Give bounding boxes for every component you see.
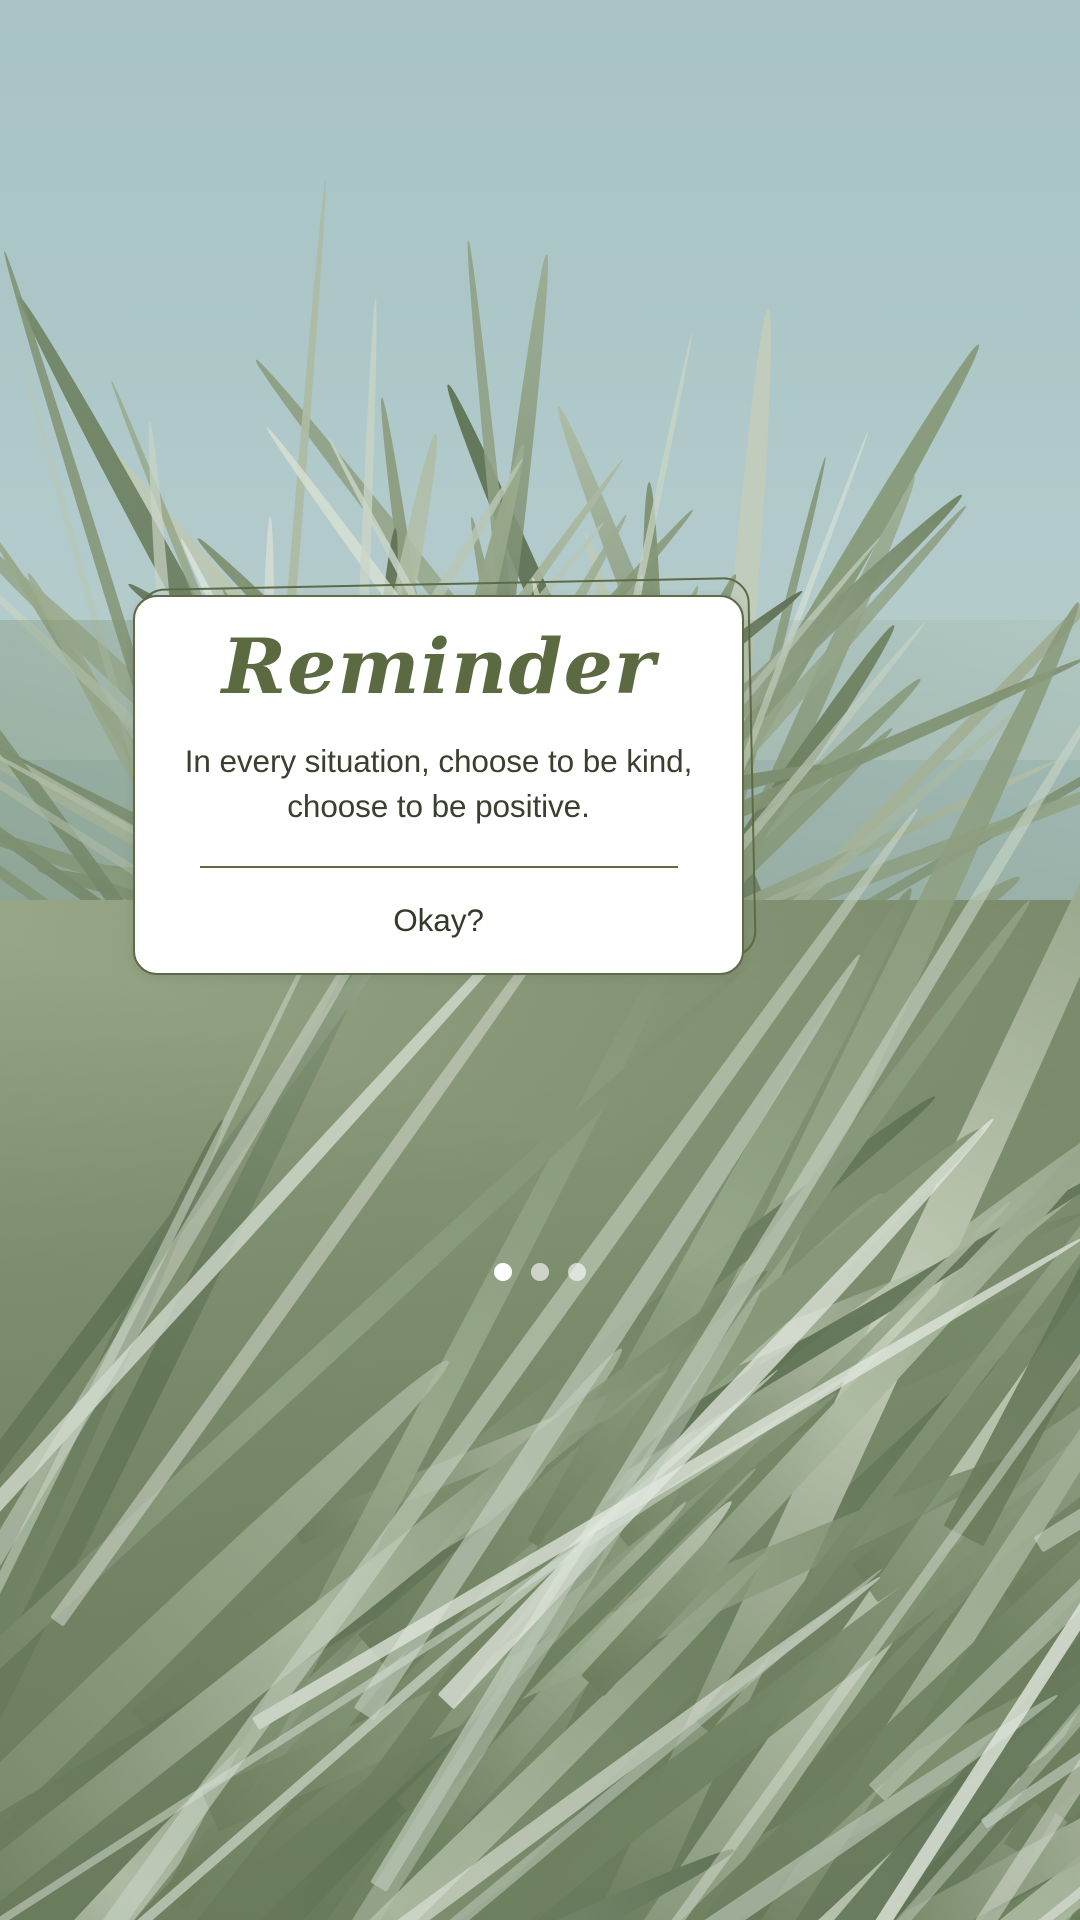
card-divider: [200, 866, 678, 868]
pagination-dot-2[interactable]: [531, 1263, 549, 1281]
story-screen: Reminder In every situation, choose to b…: [0, 0, 1080, 1920]
pagination-dot-3[interactable]: [568, 1263, 586, 1281]
reminder-card-container[interactable]: Reminder In every situation, choose to b…: [133, 583, 753, 975]
card-title: Reminder: [221, 629, 655, 705]
card-quote-text: In every situation, choose to be kind, c…: [179, 739, 699, 828]
reminder-card[interactable]: Reminder In every situation, choose to b…: [133, 595, 744, 975]
card-cta-text[interactable]: Okay?: [393, 902, 484, 940]
carousel-pagination[interactable]: [0, 1263, 1080, 1281]
pagination-dot-1[interactable]: [494, 1263, 512, 1281]
